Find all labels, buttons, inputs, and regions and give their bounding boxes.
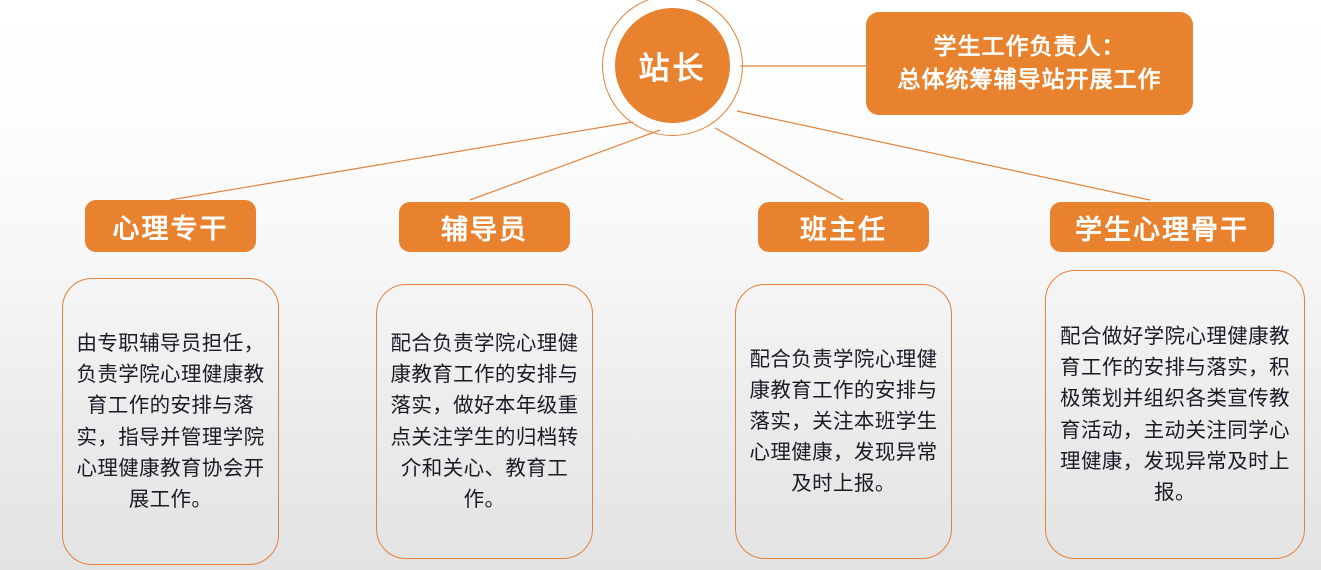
connector-root-to-role-4 [737, 111, 1150, 200]
org-chart-canvas: 站长 学生工作负责人： 总体统筹辅导站开展工作 心理专干 由专职辅导员担任，负责… [0, 0, 1321, 570]
banner-line-1: 学生工作负责人： [934, 31, 1126, 64]
root-node[interactable]: 站长 [615, 8, 730, 123]
role-title-4: 学生心理骨干 [1075, 208, 1249, 247]
role-header-4[interactable]: 学生心理骨干 [1050, 202, 1274, 252]
role-header-3[interactable]: 班主任 [758, 202, 929, 252]
role-description-3: 配合负责学院心理健康教育工作的安排与落实，关注本班学生心理健康，发现异常及时上报… [749, 344, 938, 500]
role-description-4: 配合做好学院心理健康教育工作的安排与落实，积极策划并组织各类宣传教育活动，主动关… [1059, 321, 1291, 508]
role-card-2: 配合负责学院心理健康教育工作的安排与落实，做好本年级重点关注学生的归档转介和关心… [376, 284, 593, 559]
connector-root-to-role-2 [470, 130, 660, 200]
responsibility-banner[interactable]: 学生工作负责人： 总体统筹辅导站开展工作 [866, 12, 1193, 115]
banner-line-2: 总体统筹辅导站开展工作 [898, 64, 1162, 97]
role-header-1[interactable]: 心理专干 [85, 200, 256, 252]
role-title-3: 班主任 [800, 208, 887, 247]
role-header-2[interactable]: 辅导员 [399, 202, 570, 252]
connector-root-to-role-1 [170, 122, 633, 200]
role-title-2: 辅导员 [441, 208, 528, 247]
role-card-1: 由专职辅导员担任，负责学院心理健康教育工作的安排与落实，指导并管理学院心理健康教… [62, 278, 279, 565]
role-card-4: 配合做好学院心理健康教育工作的安排与落实，积极策划并组织各类宣传教育活动，主动关… [1045, 270, 1305, 559]
role-description-2: 配合负责学院心理健康教育工作的安排与落实，做好本年级重点关注学生的归档转介和关心… [390, 328, 579, 515]
role-title-1: 心理专干 [113, 207, 229, 246]
connector-root-to-role-3 [715, 128, 843, 200]
role-description-1: 由专职辅导员担任，负责学院心理健康教育工作的安排与落实，指导并管理学院心理健康教… [76, 328, 265, 515]
root-node-label: 站长 [639, 43, 707, 88]
role-card-3: 配合负责学院心理健康教育工作的安排与落实，关注本班学生心理健康，发现异常及时上报… [735, 284, 952, 559]
